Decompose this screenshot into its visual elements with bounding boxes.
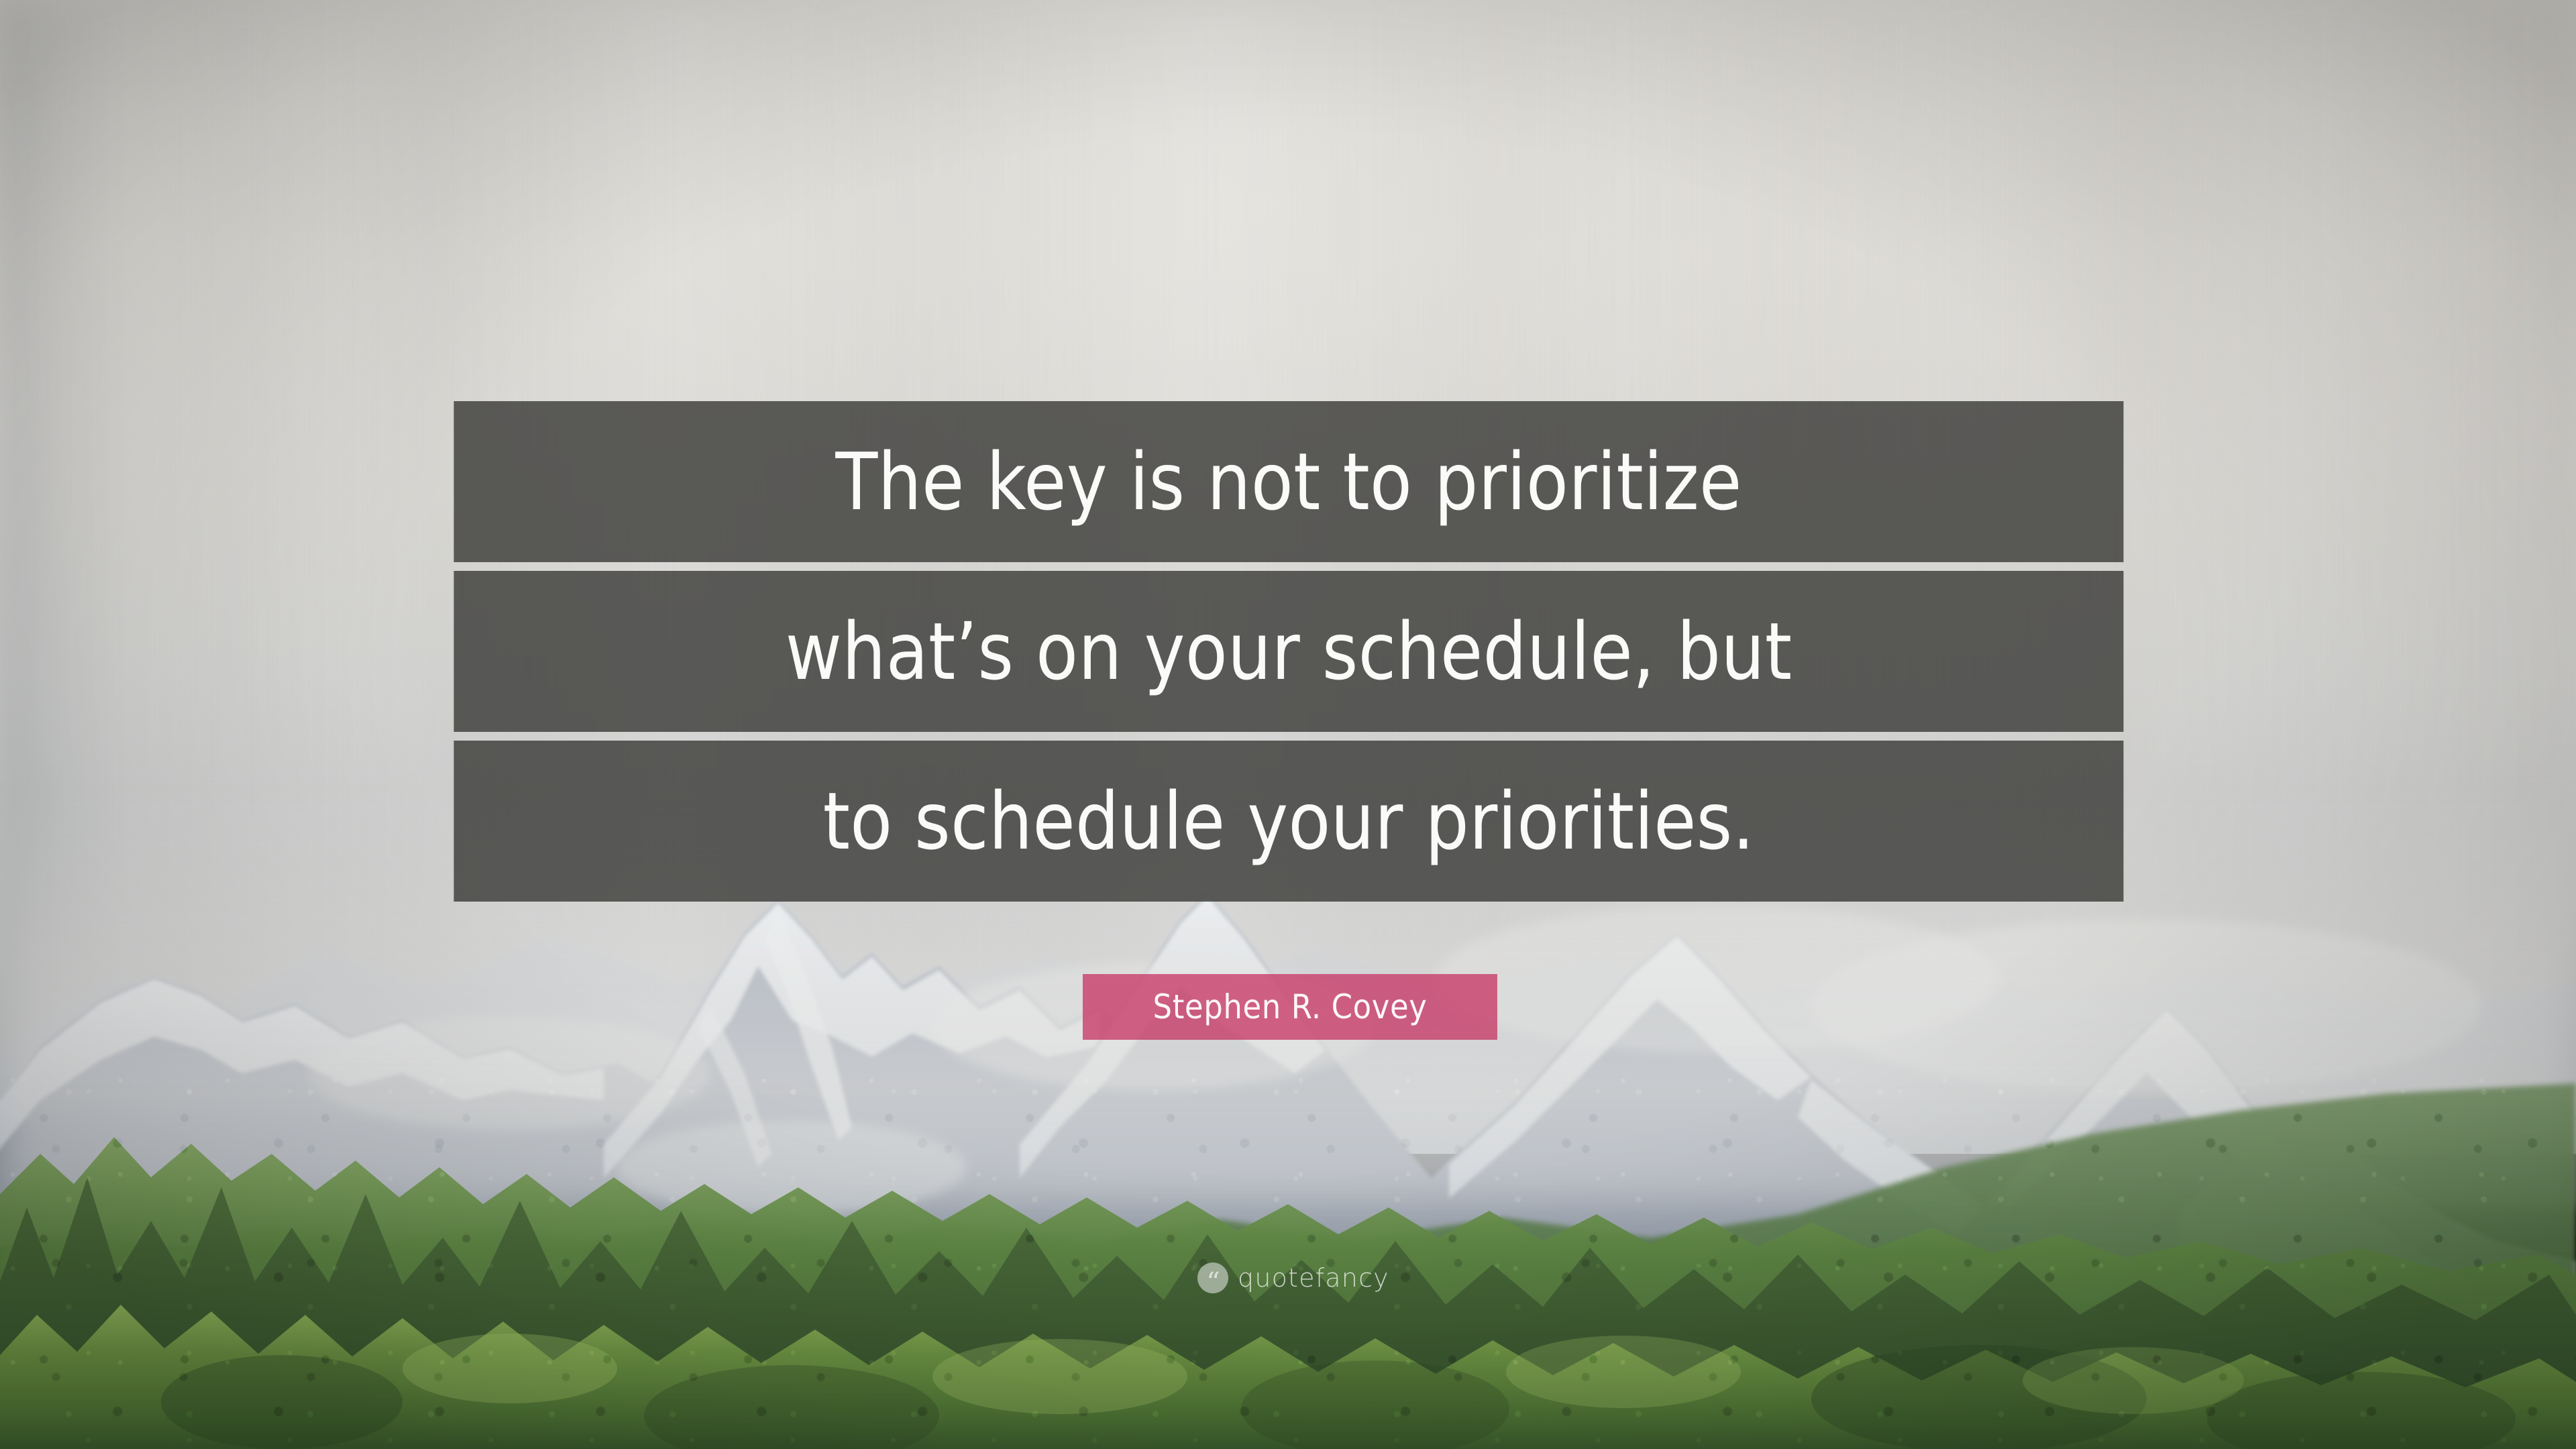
quote-line-2: what’s on your schedule, but	[453, 571, 2123, 732]
quote-line-1: The key is not to prioritize	[453, 401, 2123, 562]
quote-line-3: to schedule your priorities.	[453, 741, 2123, 902]
quote-block: The key is not to prioritize what’s on y…	[428, 401, 2149, 902]
quote-mark-icon: “	[1197, 1263, 1228, 1293]
author-badge: Stephen R. Covey	[1083, 974, 1497, 1040]
watermark-brand: quotefancy	[1238, 1263, 1389, 1293]
quote-wallpaper: The key is not to prioritize what’s on y…	[0, 0, 2576, 1449]
watermark: “ quotefancy	[1197, 1263, 1389, 1293]
author-name: Stephen R. Covey	[1153, 987, 1428, 1026]
